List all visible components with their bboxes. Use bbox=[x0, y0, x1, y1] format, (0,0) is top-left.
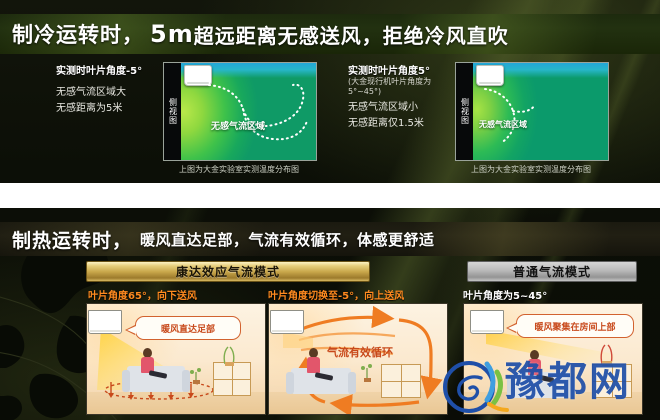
coanda-mode-label: 康达效应气流模式 bbox=[176, 263, 280, 280]
room3-plant-icon bbox=[596, 342, 618, 366]
room3-shelf-line-v bbox=[612, 365, 613, 397]
left-caption-block: 实测时叶片角度-5° 无感气流区域大 无感距离为5米 bbox=[56, 62, 176, 116]
top-headline-part1: 制冷运转时， bbox=[12, 19, 144, 49]
room3-callout-bubble: 暖风聚集在房间上部 bbox=[516, 314, 634, 338]
coanda-mode-pill: 康达效应气流模式 bbox=[86, 261, 370, 282]
room1-plant-icon bbox=[219, 344, 241, 366]
room2-sofa-arm-left bbox=[286, 372, 294, 394]
room2-shelf-line-v bbox=[401, 365, 402, 397]
left-caption-line-2: 无感距离为5米 bbox=[56, 101, 176, 117]
room2-person-body bbox=[307, 357, 320, 373]
room2-plant-icon bbox=[357, 360, 377, 382]
left-zone-label: 无感气流区域 bbox=[211, 119, 265, 132]
right-caption-title: 实测时叶片角度5° bbox=[348, 62, 468, 77]
room-illustration-coanda-down: 暖风直达足部 bbox=[86, 303, 266, 415]
top-headline-part2: 超远距离无感送风，拒绝冷风直吹 bbox=[194, 20, 509, 49]
room3-person-body bbox=[528, 359, 541, 375]
normal-mode-pill: 普通气流模式 bbox=[467, 261, 637, 282]
normal-panel-caption: 叶片角度为5~45° bbox=[463, 287, 547, 302]
room3-shelf bbox=[592, 364, 632, 398]
room-illustration-normal: 暖风聚集在房间上部 bbox=[463, 303, 643, 415]
normal-mode-label: 普通气流模式 bbox=[513, 263, 591, 280]
room3-ac-unit bbox=[470, 310, 504, 334]
left-caption-line-1: 无感气流区域大 bbox=[56, 85, 176, 101]
right-zone-label: 无感气流区域 bbox=[479, 119, 527, 130]
bottom-headline-part2: 暖风直达足部，气流有效循环，体感更舒适 bbox=[132, 229, 435, 250]
room2-shelf bbox=[381, 364, 421, 398]
right-caption-line-2: 无感距离仅1.5米 bbox=[348, 116, 468, 132]
poster-root: 制冷运转时， 5m 超远距离无感送风，拒绝冷风直吹 实测时叶片角度-5° 无感气… bbox=[0, 0, 660, 420]
room1-shelf-line-v bbox=[232, 363, 233, 395]
room1-sofa-arm-left bbox=[122, 370, 130, 392]
room1-shelf bbox=[213, 362, 251, 396]
left-zone-boundary-icon bbox=[181, 63, 316, 160]
right-caption-line-1: 无感气流区域小 bbox=[348, 100, 468, 116]
left-side-view-band: 侧视图 bbox=[164, 63, 181, 160]
left-footnote: 上图为大金实验室实测温度分布图 bbox=[163, 164, 315, 175]
room2-flow-label: 气流有效循环 bbox=[327, 344, 393, 360]
left-side-view-label: 侧视图 bbox=[169, 98, 177, 125]
room2-ac-unit bbox=[270, 310, 304, 334]
room1-ac-unit bbox=[88, 310, 122, 334]
top-headline-distance: 5m bbox=[144, 20, 194, 48]
section-divider bbox=[0, 183, 660, 208]
right-caption-block: 实测时叶片角度5° (大金现行机叶片角度为5°~45°) 无感气流区域小 无感距… bbox=[348, 62, 468, 131]
room1-callout-text: 暖风直达足部 bbox=[161, 322, 215, 335]
room1-callout-bubble: 暖风直达足部 bbox=[135, 316, 241, 340]
room2-sofa bbox=[291, 368, 351, 394]
left-thermal-field: 无感气流区域 bbox=[181, 63, 316, 160]
left-caption-title: 实测时叶片角度-5° bbox=[56, 62, 176, 77]
bottom-headline: 制热运转时， 暖风直达足部，气流有效循环，体感更舒适 bbox=[12, 222, 435, 256]
thermal-image-left: 侧视图 无感气流区域 bbox=[163, 62, 317, 161]
room1-sofa bbox=[127, 366, 185, 392]
room1-small-plant-icon bbox=[187, 364, 205, 384]
thermal-image-right: 侧视图 无感气流区域 bbox=[455, 62, 609, 161]
right-caption-subtitle: (大金现行机叶片角度为5°~45°) bbox=[348, 77, 460, 97]
room3-sofa-arm-left bbox=[507, 376, 515, 398]
room2-sofa-arm-right bbox=[348, 372, 356, 394]
bottom-headline-part1: 制热运转时， bbox=[12, 226, 132, 253]
top-headline: 制冷运转时， 5m 超远距离无感送风，拒绝冷风直吹 bbox=[12, 14, 509, 54]
coanda-panel1-caption: 叶片角度65°，向下送风 bbox=[88, 287, 197, 302]
right-footnote: 上图为大金实验室实测温度分布图 bbox=[455, 164, 607, 175]
room3-callout-text: 暖风聚集在房间上部 bbox=[534, 320, 615, 333]
right-zone-boundary-icon bbox=[473, 63, 608, 160]
room3-sofa-arm-right bbox=[567, 376, 575, 398]
right-side-view-band: 侧视图 bbox=[456, 63, 473, 160]
room-illustration-coanda-up: 气流有效循环 bbox=[268, 303, 448, 415]
right-side-view-label: 侧视图 bbox=[461, 98, 469, 125]
right-thermal-field: 无感气流区域 bbox=[473, 63, 608, 160]
coanda-panel2-caption: 叶片角度切换至-5°，向上送风 bbox=[268, 287, 404, 302]
